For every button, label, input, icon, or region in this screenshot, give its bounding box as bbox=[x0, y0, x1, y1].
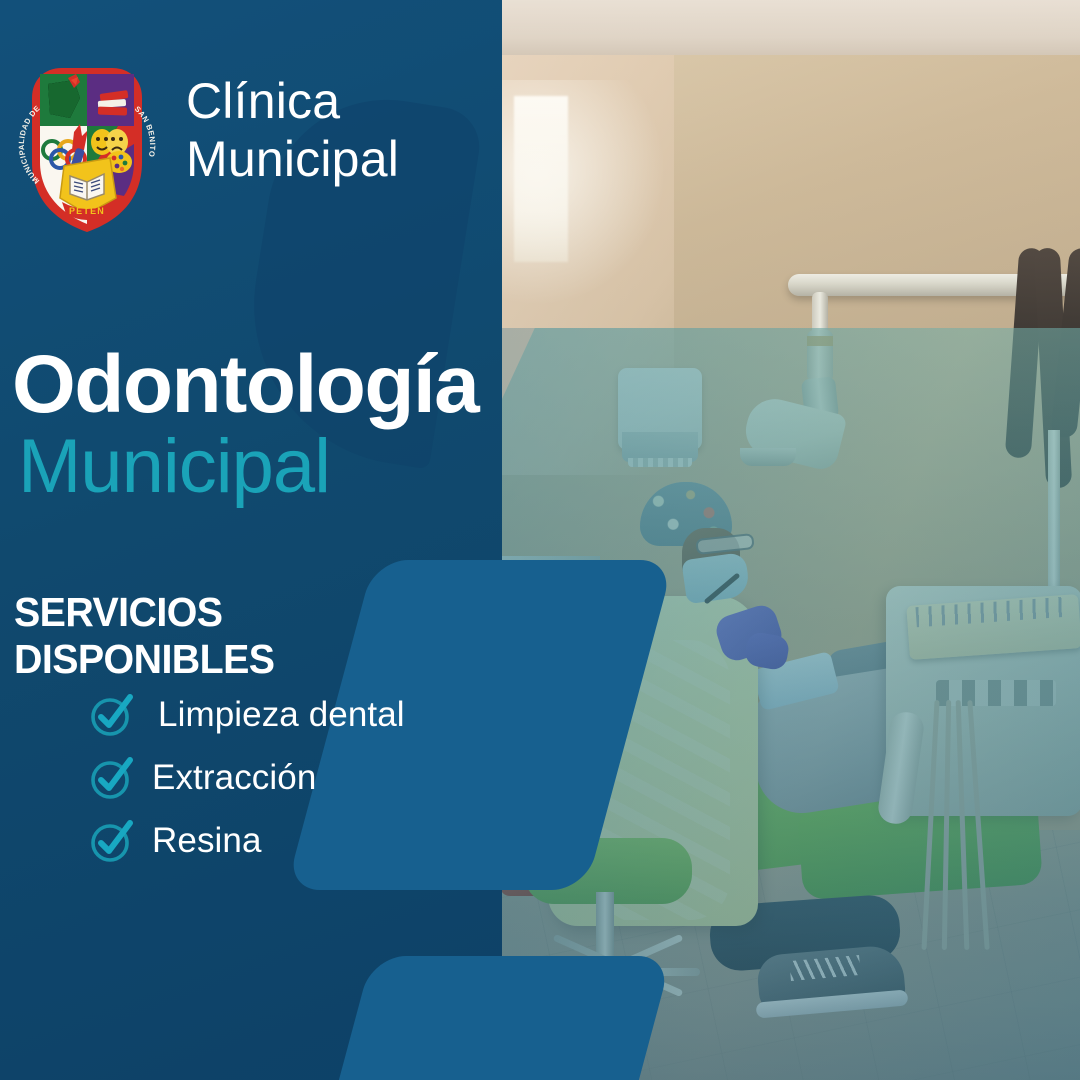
mask-tragedy bbox=[106, 129, 128, 155]
decor-blade-bottom bbox=[324, 956, 672, 1080]
poster-canvas: PETÉN MUNICIPALIDAD DE SAN BENITO Clínic… bbox=[0, 0, 1080, 1080]
coat-of-arms-logo: PETÉN MUNICIPALIDAD DE SAN BENITO bbox=[18, 58, 156, 238]
list-item: Limpieza dental bbox=[88, 686, 488, 744]
brand-title: Clínica Municipal bbox=[186, 72, 486, 188]
brand-line-2: Municipal bbox=[186, 130, 486, 188]
brand-line-1: Clínica bbox=[186, 72, 486, 130]
list-item: Resina bbox=[88, 812, 488, 870]
list-item-label: Resina bbox=[152, 821, 262, 861]
check-circle-icon bbox=[88, 692, 134, 738]
list-item-label: Limpieza dental bbox=[158, 695, 405, 735]
services-list: Limpieza dental Extracción Resina bbox=[88, 686, 488, 875]
list-item: Extracción bbox=[88, 749, 488, 807]
list-item-label: Extracción bbox=[152, 758, 316, 798]
check-circle-icon bbox=[88, 755, 134, 801]
clinic-photo bbox=[500, 0, 1080, 1080]
check-circle-icon bbox=[88, 818, 134, 864]
services-heading: SERVICIOS DISPONIBLES bbox=[14, 589, 484, 683]
headline-main: Odontología bbox=[12, 339, 478, 430]
book-red-bottom bbox=[98, 107, 127, 116]
headline-sub: Municipal bbox=[12, 429, 492, 504]
page-title: Odontología Municipal bbox=[12, 344, 492, 504]
banner-peten-text: PETÉN bbox=[69, 206, 105, 216]
photo-color-grade bbox=[500, 0, 1080, 1080]
